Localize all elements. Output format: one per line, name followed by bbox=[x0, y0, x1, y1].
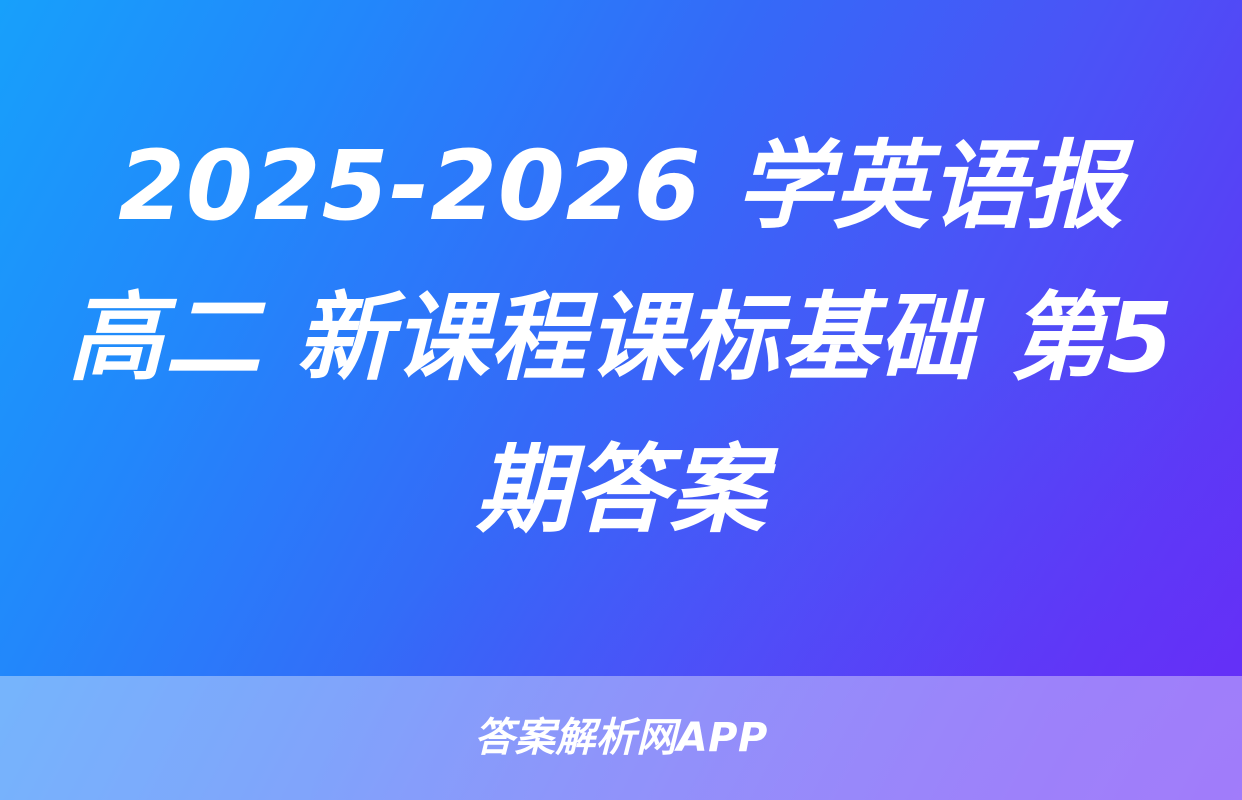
answer-poster: 2025-2026 学英语报 高二 新课程课标基础 第5期答案 答案解析网APP bbox=[0, 0, 1242, 800]
footer-brand-band: 答案解析网APP bbox=[0, 676, 1242, 800]
app-brand-label: 答案解析网APP bbox=[474, 714, 768, 762]
headline-area: 2025-2026 学英语报 高二 新课程课标基础 第5期答案 bbox=[0, 0, 1242, 676]
page-title: 2025-2026 学英语报 高二 新课程课标基础 第5期答案 bbox=[61, 110, 1181, 566]
